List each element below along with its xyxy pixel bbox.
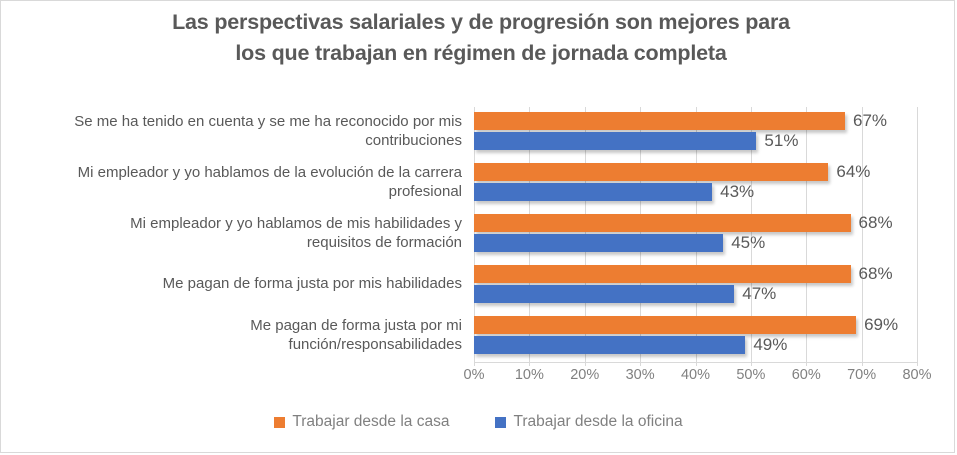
bar-value-label: 51% [764, 132, 798, 150]
x-tick-label: 80% [892, 367, 942, 383]
x-tick-mark [696, 362, 697, 366]
x-tick-mark [862, 362, 863, 366]
bar-oficina-1[interactable] [474, 132, 756, 150]
bar-oficina-5[interactable] [474, 336, 745, 354]
category-label-5: Me pagan de forma justa por mifunción/re… [2, 316, 462, 354]
x-tick-label: 70% [837, 367, 887, 383]
x-tick-label: 0% [449, 367, 499, 383]
category-label-1: Se me ha tenido en cuenta y se me ha rec… [2, 112, 462, 150]
category-label-line: Mi empleador y yo hablamos de mis habili… [2, 214, 462, 233]
bar-casa-2[interactable] [474, 163, 828, 181]
bar-casa-1[interactable] [474, 112, 845, 130]
bar-casa-3[interactable] [474, 214, 851, 232]
gridline-70pct [862, 107, 863, 362]
x-tick-mark [640, 362, 641, 366]
x-tick-label: 10% [504, 367, 554, 383]
bar-casa-5[interactable] [474, 316, 856, 334]
category-label-line: Mi empleador y yo hablamos de la evoluci… [2, 163, 462, 182]
x-tick-mark [474, 362, 475, 366]
legend-label: Trabajar desde la casa [292, 413, 449, 431]
category-label-4: Me pagan de forma justa por mis habilida… [2, 274, 462, 293]
legend-item[interactable]: Trabajar desde la casa [274, 413, 449, 431]
bar-casa-4[interactable] [474, 265, 851, 283]
plot-area [474, 107, 917, 362]
bar-value-label: 69% [864, 316, 898, 334]
x-tick-label: 50% [726, 367, 776, 383]
x-tick-label: 20% [560, 367, 610, 383]
category-label-3: Mi empleador y yo hablamos de mis habili… [2, 214, 462, 252]
bar-value-label: 43% [720, 183, 754, 201]
chart-legend: Trabajar desde la casaTrabajar desde la … [1, 413, 956, 431]
category-label-line: profesional [2, 182, 462, 201]
x-tick-label: 30% [615, 367, 665, 383]
bar-value-label: 64% [836, 163, 870, 181]
bar-value-label: 68% [859, 265, 893, 283]
chart-container: Las perspectivas salariales y de progres… [0, 0, 955, 453]
category-label-line: función/responsabilidades [2, 335, 462, 354]
legend-swatch-oficina [495, 417, 506, 428]
bar-value-label: 49% [753, 336, 787, 354]
category-label-2: Mi empleador y yo hablamos de la evoluci… [2, 163, 462, 201]
bar-value-label: 45% [731, 234, 765, 252]
bar-oficina-4[interactable] [474, 285, 734, 303]
x-tick-mark [917, 362, 918, 366]
category-label-line: Me pagan de forma justa por mi [2, 316, 462, 335]
x-tick-mark [585, 362, 586, 366]
legend-swatch-casa [274, 417, 285, 428]
category-label-line: requisitos de formación [2, 233, 462, 252]
x-tick-mark [751, 362, 752, 366]
x-tick-mark [529, 362, 530, 366]
bar-oficina-2[interactable] [474, 183, 712, 201]
x-tick-label: 40% [671, 367, 721, 383]
x-tick-mark [806, 362, 807, 366]
bar-oficina-3[interactable] [474, 234, 723, 252]
category-label-line: contribuciones [2, 131, 462, 150]
legend-item[interactable]: Trabajar desde la oficina [495, 413, 682, 431]
bar-value-label: 68% [859, 214, 893, 232]
category-label-line: Se me ha tenido en cuenta y se me ha rec… [2, 112, 462, 131]
x-tick-label: 60% [781, 367, 831, 383]
bar-value-label: 67% [853, 112, 887, 130]
plot-wrapper: 0%10%20%30%40%50%60%70%80% Se me ha teni… [1, 1, 956, 454]
category-label-line: Me pagan de forma justa por mis habilida… [2, 274, 462, 293]
bar-value-label: 47% [742, 285, 776, 303]
gridline-80pct [917, 107, 918, 362]
legend-label: Trabajar desde la oficina [513, 413, 682, 431]
